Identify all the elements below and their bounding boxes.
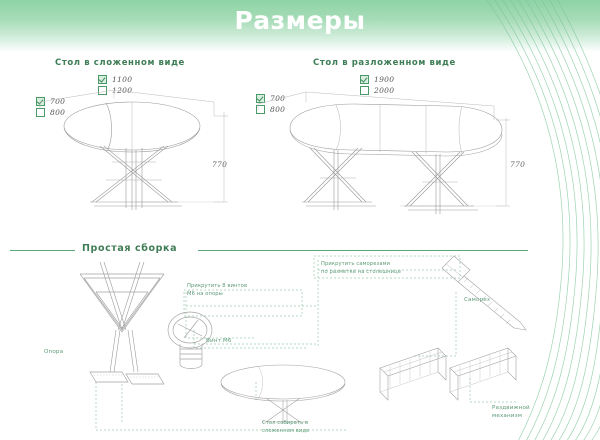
option-label: 1900 [374,75,394,84]
checkbox-checked-icon[interactable] [98,75,107,84]
divider-line-right [198,250,528,251]
note-screw-supports: Прикрутить 8 винтов М6 на опоры [187,283,247,298]
part-label-screw: Саморез [464,296,490,304]
page-header: Размеры [0,0,600,52]
note-assemble-folded: Стол собирать в сложенном виде [262,420,309,435]
part-label-mechanism: Раздвижной механизм [492,404,530,420]
screw-graphic [442,256,526,330]
divider-line-left [10,250,75,251]
part-label-support: Опора [44,348,63,356]
unfolded-table-drawing [250,84,530,224]
unfolded-height-value: 770 [510,160,525,169]
checkbox-checked-icon[interactable] [360,75,369,84]
part-label-bolt: Винт М6 [206,337,232,345]
folded-height-value: 770 [212,160,227,169]
folded-table-drawing [28,84,248,224]
option-label: 1100 [112,75,132,84]
infographic-page: Размеры Стол в сложенном виде 1100 1200 [0,0,600,440]
section-caption-unfolded: Стол в разложенном виде [313,58,456,68]
section-caption-folded: Стол в сложенном виде [55,58,185,68]
note-screw-tabletop: Прикрутить саморезами по разметке на сто… [321,261,401,276]
page-title: Размеры [0,6,600,35]
